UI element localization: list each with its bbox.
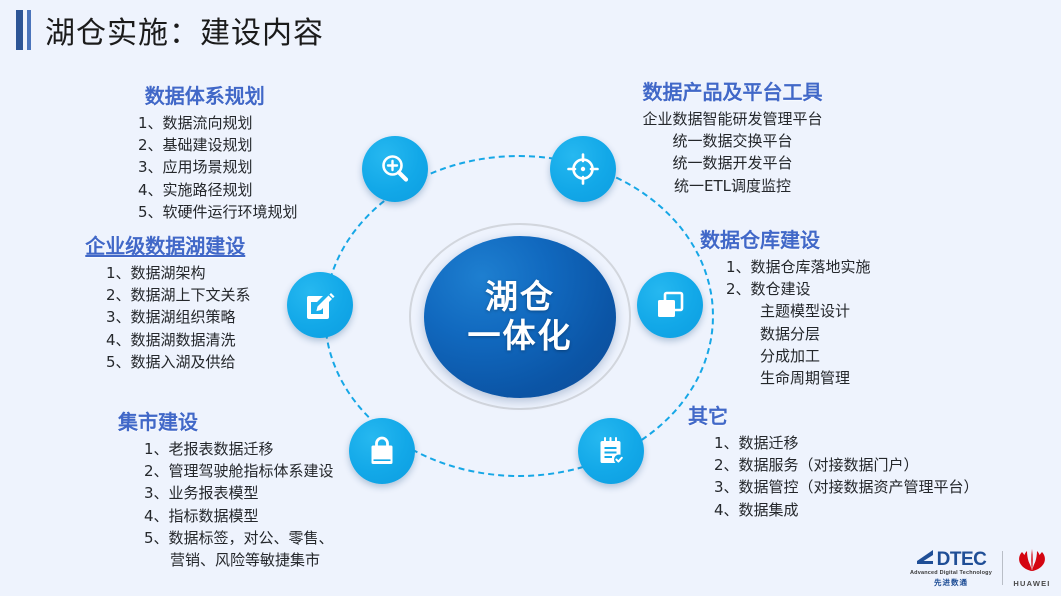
list-item: 统一数据开发平台 bbox=[600, 152, 865, 174]
list-item: 3、数据管控（对接数据资产管理平台） bbox=[688, 476, 979, 498]
logo-divider bbox=[1002, 551, 1003, 585]
list-item: 1、数据流向规划 bbox=[112, 112, 298, 134]
list-item: 2、数仓建设 bbox=[700, 278, 871, 300]
list-item: 企业数据智能研发管理平台 bbox=[600, 108, 865, 130]
block-middle-right: 数据仓库建设 1、数据仓库落地实施 2、数仓建设 主题模型设计 数据分层 分成加… bbox=[700, 228, 871, 389]
footer-logos: DTEC Advanced Digital Technology 先进数通 HU… bbox=[910, 547, 1051, 588]
list-item: 1、老报表数据迁移 bbox=[118, 438, 334, 460]
block-top-left-items: 1、数据流向规划 2、基础建设规划 3、应用场景规划 4、实施路径规划 5、软硬… bbox=[112, 112, 298, 223]
list-item: 5、数据入湖及供给 bbox=[80, 351, 251, 373]
block-bottom-left-items: 1、老报表数据迁移 2、管理驾驶舱指标体系建设 3、业务报表模型 4、指标数据模… bbox=[118, 438, 334, 571]
block-bottom-left-heading: 集市建设 bbox=[118, 410, 334, 435]
list-item: 统一ETL调度监控 bbox=[600, 175, 865, 197]
dtec-tagline: Advanced Digital Technology bbox=[910, 571, 992, 577]
sub-list-item: 生命周期管理 bbox=[700, 367, 871, 389]
title-accent-bar-secondary bbox=[27, 10, 31, 50]
center-hub-circle: 湖仓 一体化 bbox=[424, 236, 616, 398]
block-bottom-right-items: 1、数据迁移 2、数据服务（对接数据门户） 3、数据管控（对接数据资产管理平台）… bbox=[688, 432, 979, 521]
sub-list-item: 主题模型设计 bbox=[700, 300, 871, 322]
block-top-right-heading: 数据产品及平台工具 bbox=[600, 80, 865, 105]
center-hub-line-1: 湖仓 bbox=[485, 278, 555, 317]
block-middle-right-heading: 数据仓库建设 bbox=[700, 228, 871, 253]
notepad-check-icon bbox=[594, 434, 628, 468]
node-bottom-right[interactable] bbox=[578, 418, 644, 484]
sub-list-item: 数据分层 bbox=[700, 323, 871, 345]
block-middle-right-items: 1、数据仓库落地实施 2、数仓建设 主题模型设计 数据分层 分成加工 生命周期管… bbox=[700, 256, 871, 389]
title-accent-bar-primary bbox=[16, 10, 23, 50]
list-item: 4、指标数据模型 bbox=[118, 505, 334, 527]
list-item: 3、数据湖组织策略 bbox=[80, 306, 251, 328]
block-middle-left-heading: 企业级数据湖建设 bbox=[80, 234, 251, 259]
dtec-logo: DTEC Advanced Digital Technology 先进数通 bbox=[910, 549, 992, 586]
block-top-right: 数据产品及平台工具 企业数据智能研发管理平台 统一数据交换平台 统一数据开发平台… bbox=[600, 80, 865, 197]
dtec-chinese-name: 先进数通 bbox=[934, 579, 968, 587]
dtec-arrow-icon bbox=[916, 549, 936, 569]
shopping-bag-icon bbox=[365, 434, 399, 468]
crosshair-target-icon bbox=[566, 152, 600, 186]
list-item: 3、业务报表模型 bbox=[118, 482, 334, 504]
list-item: 2、数据湖上下文关系 bbox=[80, 284, 251, 306]
list-item: 4、数据集成 bbox=[688, 499, 979, 521]
list-item: 4、实施路径规划 bbox=[112, 179, 298, 201]
center-hub-line-2: 一体化 bbox=[468, 317, 573, 356]
list-item: 统一数据交换平台 bbox=[600, 130, 865, 152]
sub-list-item: 分成加工 bbox=[700, 345, 871, 367]
block-top-left: 数据体系规划 1、数据流向规划 2、基础建设规划 3、应用场景规划 4、实施路径… bbox=[112, 84, 298, 223]
node-top-left[interactable] bbox=[362, 136, 428, 202]
huawei-logo: HUAWEI bbox=[1013, 547, 1051, 588]
huawei-flower-icon bbox=[1013, 547, 1051, 578]
copy-layers-icon bbox=[653, 288, 687, 322]
slide-root: 湖仓实施：建设内容 湖仓 一体化 bbox=[0, 0, 1061, 596]
list-item: 4、数据湖数据清洗 bbox=[80, 329, 251, 351]
edit-pencil-square-icon bbox=[303, 288, 337, 322]
block-middle-left-items: 1、数据湖架构 2、数据湖上下文关系 3、数据湖组织策略 4、数据湖数据清洗 5… bbox=[80, 262, 251, 373]
node-middle-left[interactable] bbox=[287, 272, 353, 338]
block-top-left-heading: 数据体系规划 bbox=[112, 84, 298, 109]
list-item: 5、数据标签，对公、零售、 bbox=[118, 527, 334, 549]
node-middle-right[interactable] bbox=[637, 272, 703, 338]
page-title: 湖仓实施：建设内容 bbox=[45, 8, 324, 52]
list-item: 1、数据仓库落地实施 bbox=[700, 256, 871, 278]
block-bottom-left: 集市建设 1、老报表数据迁移 2、管理驾驶舱指标体系建设 3、业务报表模型 4、… bbox=[118, 410, 334, 571]
list-item: 1、数据迁移 bbox=[688, 432, 979, 454]
block-middle-left: 企业级数据湖建设 1、数据湖架构 2、数据湖上下文关系 3、数据湖组织策略 4、… bbox=[80, 234, 251, 373]
huawei-wordmark: HUAWEI bbox=[1013, 579, 1050, 588]
list-item: 2、管理驾驶舱指标体系建设 bbox=[118, 460, 334, 482]
block-bottom-right-heading: 其它 bbox=[688, 404, 979, 429]
dtec-logo-mark-row: DTEC bbox=[916, 549, 987, 569]
list-item: 2、基础建设规划 bbox=[112, 134, 298, 156]
list-item: 3、应用场景规划 bbox=[112, 156, 298, 178]
list-item: 2、数据服务（对接数据门户） bbox=[688, 454, 979, 476]
node-bottom-left[interactable] bbox=[349, 418, 415, 484]
block-top-right-items: 企业数据智能研发管理平台 统一数据交换平台 统一数据开发平台 统一ETL调度监控 bbox=[600, 108, 865, 197]
slide-title-row: 湖仓实施：建设内容 bbox=[0, 0, 1061, 62]
block-bottom-right: 其它 1、数据迁移 2、数据服务（对接数据门户） 3、数据管控（对接数据资产管理… bbox=[688, 404, 979, 521]
dtec-wordmark: DTEC bbox=[937, 550, 987, 569]
zoom-in-icon bbox=[378, 152, 412, 186]
list-item-continuation: 营销、风险等敏捷集市 bbox=[118, 549, 334, 571]
list-item: 1、数据湖架构 bbox=[80, 262, 251, 284]
list-item: 5、软硬件运行环境规划 bbox=[112, 201, 298, 223]
